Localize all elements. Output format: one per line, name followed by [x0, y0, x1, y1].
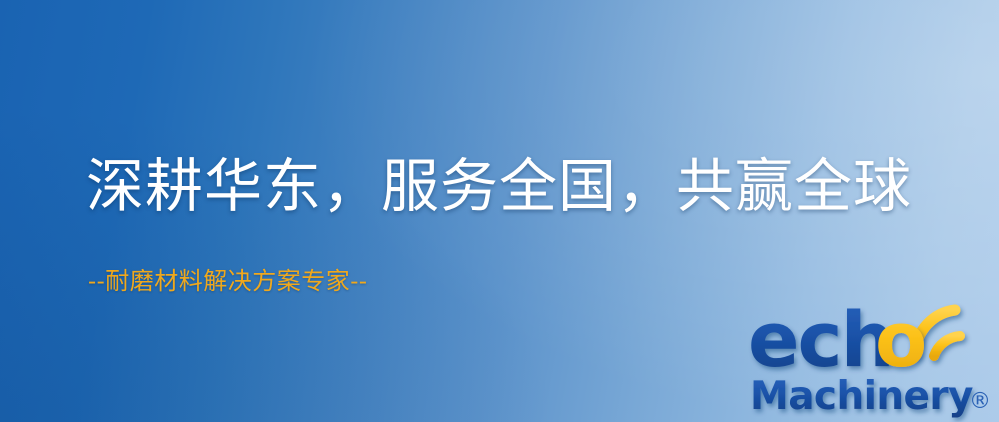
echo-machinery-logo[interactable]: ech o Machinery ®	[748, 298, 999, 422]
svg-text:ech: ech	[748, 298, 893, 384]
banner-headline: 深耕华东，服务全国，共赢全球	[86, 152, 912, 220]
banner-subtitle: --耐磨材料解决方案专家--	[88, 266, 367, 297]
registered-trademark-icon: ®	[969, 389, 991, 414]
svg-text:o: o	[875, 298, 927, 384]
svg-text:Machinery: Machinery	[750, 374, 973, 419]
svg-text:®: ®	[969, 389, 991, 414]
logo-tagline: Machinery	[750, 374, 973, 419]
hero-banner: 深耕华东，服务全国，共赢全球 --耐磨材料解决方案专家--	[0, 0, 999, 422]
logo-wordmark-ech: ech	[748, 298, 893, 384]
logo-wordmark-o: o	[875, 298, 927, 384]
